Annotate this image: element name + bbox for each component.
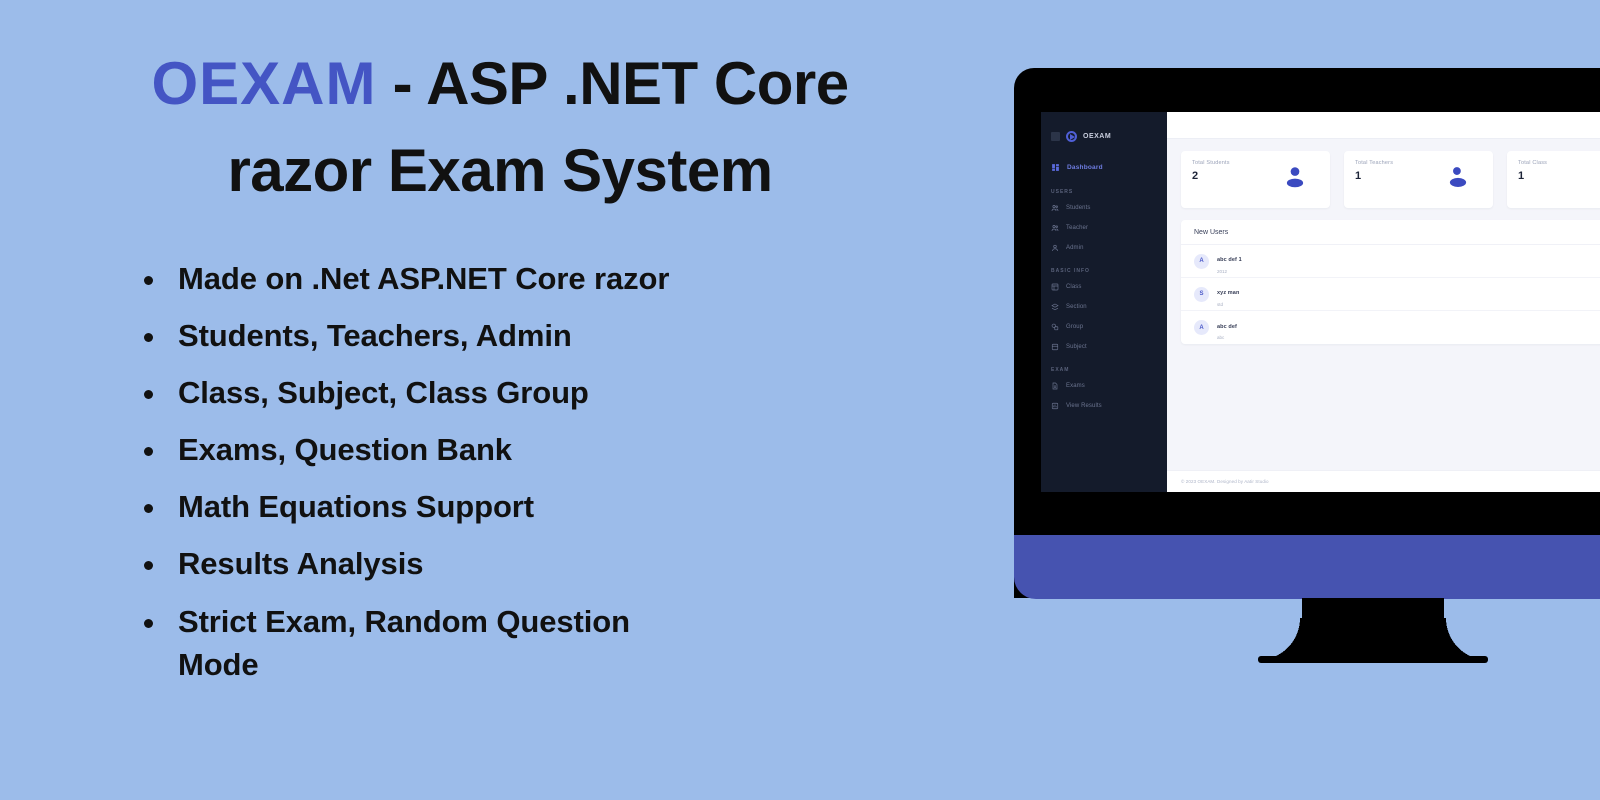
- sidebar-group-users: USERS Students Teacher: [1041, 189, 1167, 253]
- table-row[interactable]: S xyz man std: [1181, 278, 1600, 311]
- user-sub: abc: [1217, 335, 1237, 340]
- avatar: S: [1194, 287, 1209, 302]
- monitor-mockup: OEXAM Dashboard USERS Students: [1014, 68, 1600, 598]
- bullet-icon: [144, 619, 153, 628]
- new-users-panel: New Users A abc def 1 2012 S xyz man std: [1181, 220, 1600, 344]
- sidebar-item-exams[interactable]: Exams: [1051, 380, 1167, 391]
- book-icon: [1051, 343, 1059, 351]
- new-users-heading: New Users: [1181, 220, 1600, 245]
- sidebar-item-label: Class: [1066, 284, 1082, 290]
- user-sub: std: [1217, 302, 1239, 307]
- sidebar-item-section[interactable]: Section: [1051, 301, 1167, 312]
- list-item: Class, Subject, Class Group: [128, 376, 928, 410]
- promo-banner: OEXAM - ASP .NET Core razor Exam System …: [0, 0, 1600, 800]
- bullet-icon: [144, 276, 153, 285]
- sidebar-item-label: Section: [1066, 304, 1087, 310]
- bullet-icon: [144, 447, 153, 456]
- sidebar-logo-text: OEXAM: [1083, 133, 1111, 140]
- sidebar-group-title: EXAM: [1051, 367, 1167, 373]
- feature-text: Exams, Question Bank: [178, 432, 512, 467]
- stat-card-value: 1: [1518, 170, 1600, 182]
- sidebar-group-title: BASIC INFO: [1051, 268, 1167, 274]
- dashboard-footer: © 2023 OEXAM. Designed by Aatir Studio: [1167, 470, 1600, 492]
- sidebar-item-teacher[interactable]: Teacher: [1051, 222, 1167, 233]
- stat-card-total-class[interactable]: Total Class 1: [1507, 151, 1600, 208]
- sidebar-item-label: Exams: [1066, 383, 1085, 389]
- feature-text: Made on .Net ASP.NET Core razor: [178, 261, 669, 296]
- list-item: Exams, Question Bank: [128, 433, 928, 467]
- sidebar-group-title: USERS: [1051, 189, 1167, 195]
- sidebar-item-dashboard[interactable]: Dashboard: [1051, 160, 1167, 174]
- feature-text: Strict Exam, Random Question: [178, 604, 630, 639]
- feature-text: Students, Teachers, Admin: [178, 318, 572, 353]
- stat-card-title: Total Class: [1518, 160, 1600, 166]
- oexam-logo-icon: [1066, 131, 1077, 142]
- students-icon: [1282, 164, 1308, 195]
- sidebar-item-admin[interactable]: Admin: [1051, 242, 1167, 253]
- users-icon: [1051, 204, 1059, 212]
- user-name: xyz man: [1217, 290, 1239, 296]
- user-icon: [1051, 244, 1059, 252]
- dashboard-sidebar: OEXAM Dashboard USERS Students: [1041, 112, 1167, 492]
- headline-rest: - ASP .NET Core: [376, 50, 848, 117]
- file-icon: [1051, 382, 1059, 390]
- avatar: A: [1194, 320, 1209, 335]
- chart-icon: [1051, 402, 1059, 410]
- headline-line2: razor Exam System: [0, 139, 1000, 202]
- user-sub: 2012: [1217, 269, 1242, 274]
- user-name: abc def 1: [1217, 257, 1242, 263]
- stat-card-row: Total Students 2 Total Teachers 1: [1167, 139, 1600, 208]
- bullet-icon: [144, 333, 153, 342]
- bullet-icon: [144, 504, 153, 513]
- sidebar-item-view-results[interactable]: View Results: [1051, 400, 1167, 411]
- page-title: OEXAM - ASP .NET Core razor Exam System: [0, 52, 1000, 202]
- users-icon: [1051, 224, 1059, 232]
- stand-neck: [1302, 598, 1444, 660]
- feature-text: Class, Subject, Class Group: [178, 375, 589, 410]
- sidebar-item-class[interactable]: Class: [1051, 281, 1167, 292]
- list-item: Made on .Net ASP.NET Core razor: [128, 262, 928, 296]
- sidebar-item-label: Teacher: [1066, 225, 1088, 231]
- monitor-chin: [1014, 535, 1600, 599]
- brand-name: OEXAM: [151, 50, 376, 117]
- sidebar-header: OEXAM: [1041, 121, 1167, 147]
- layers-icon: [1051, 303, 1059, 311]
- list-item: Results Analysis: [128, 547, 928, 581]
- sidebar-item-label: Group: [1066, 324, 1083, 330]
- hamburger-icon[interactable]: [1051, 132, 1060, 141]
- table-row[interactable]: A abc def 1 2012: [1181, 245, 1600, 278]
- list-item: Students, Teachers, Admin: [128, 319, 928, 353]
- sidebar-item-label: Dashboard: [1067, 164, 1103, 171]
- bullet-icon: [144, 561, 153, 570]
- user-name: abc def: [1217, 324, 1237, 330]
- list-item: Strict Exam, Random Question Mode: [128, 605, 928, 682]
- sidebar-item-label: View Results: [1066, 403, 1102, 409]
- teacher-icon: [1445, 164, 1471, 195]
- promo-left-panel: OEXAM - ASP .NET Core razor Exam System …: [0, 0, 1000, 800]
- grid-icon: [1051, 283, 1059, 291]
- stand-flare-right: [1438, 618, 1488, 660]
- sidebar-item-label: Admin: [1066, 245, 1084, 251]
- bullet-icon: [144, 390, 153, 399]
- dashboard-content: Total Students 2 Total Teachers 1: [1167, 112, 1600, 492]
- sidebar-item-students[interactable]: Students: [1051, 202, 1167, 213]
- feature-text-wrap: Mode: [178, 648, 928, 682]
- stand-base: [1258, 656, 1488, 663]
- sidebar-item-subject[interactable]: Subject: [1051, 341, 1167, 352]
- stat-card-total-teachers[interactable]: Total Teachers 1: [1344, 151, 1493, 208]
- dashboard-icon: [1051, 163, 1060, 172]
- sidebar-group-exam: EXAM Exams View Results: [1041, 367, 1167, 411]
- avatar: A: [1194, 254, 1209, 269]
- feature-text: Results Analysis: [178, 546, 423, 581]
- dashboard-topbar: [1167, 112, 1600, 139]
- sidebar-item-group[interactable]: Group: [1051, 321, 1167, 332]
- sidebar-group-basic-info: BASIC INFO Class Section: [1041, 268, 1167, 352]
- monitor-stand: [1258, 598, 1488, 670]
- stand-flare-left: [1258, 618, 1308, 660]
- shapes-icon: [1051, 323, 1059, 331]
- monitor-screen: OEXAM Dashboard USERS Students: [1041, 112, 1600, 492]
- feature-text: Math Equations Support: [178, 489, 534, 524]
- feature-list: Made on .Net ASP.NET Core razor Students…: [128, 262, 928, 705]
- sidebar-item-label: Students: [1066, 205, 1090, 211]
- list-item: Math Equations Support: [128, 490, 928, 524]
- sidebar-item-label: Subject: [1066, 344, 1087, 350]
- table-row[interactable]: A abc def abc: [1181, 311, 1600, 344]
- stat-card-total-students[interactable]: Total Students 2: [1181, 151, 1330, 208]
